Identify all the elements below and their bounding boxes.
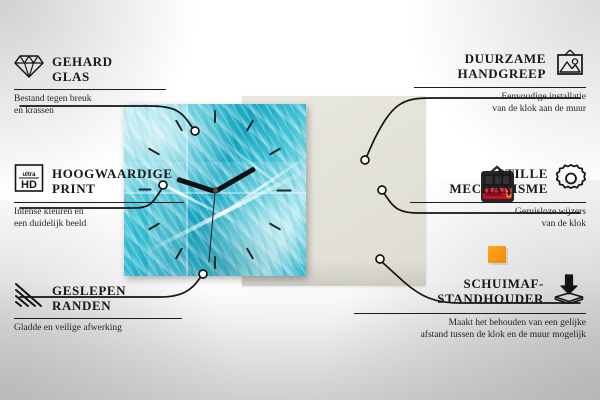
- feature-rule: [410, 202, 586, 203]
- feature-stille-mechanisme: STILLE MECHANISME Geruisloze wijzers van…: [410, 163, 586, 230]
- diamond-icon: [14, 52, 44, 85]
- feature-description: Bestand tegen breuk en krassen: [14, 94, 166, 117]
- feature-geslepen-randen: GESLEPEN RANDEN Gladde en veilige afwerk…: [14, 281, 182, 335]
- clock-tick-12: [214, 110, 216, 123]
- feature-description: Gladde en veilige afwerking: [14, 323, 182, 335]
- reflection-edge-vertical: [186, 104, 188, 276]
- feature-head: GESLEPEN RANDEN: [14, 281, 182, 314]
- clock-tick-3: [277, 190, 292, 192]
- foam-spacer-pad: [488, 246, 506, 263]
- feature-head: SCHUIMAF- STANDHOUDER: [354, 272, 586, 309]
- feature-head: STILLE MECHANISME: [410, 163, 586, 198]
- feature-rule: [14, 89, 166, 90]
- infographic-stage: GEHARD GLAS Bestand tegen breuk en krass…: [0, 0, 600, 400]
- feature-hoogwaardige-print: ultra HD HOOGWAARDIGE PRINT Intense kleu…: [14, 163, 184, 230]
- feature-head: ultra HD HOOGWAARDIGE PRINT: [14, 163, 184, 198]
- feature-rule: [14, 318, 182, 319]
- feature-description: Geruisloze wijzers van de klok: [410, 207, 586, 230]
- hd-label: HD: [21, 179, 37, 191]
- clock-tick-6: [214, 256, 216, 269]
- feature-title: GESLEPEN RANDEN: [52, 283, 126, 313]
- feature-duurzame-handgreep: DUURZAME HANDGREEP Eenvoudige installati…: [414, 48, 586, 115]
- ultra-label: ultra: [22, 172, 36, 178]
- feature-description: Maakt het behouden van een gelijke afsta…: [354, 318, 586, 341]
- ultra-hd-icon: ultra HD: [14, 163, 44, 198]
- feature-schuimafstandhouder: SCHUIMAF- STANDHOUDER Maakt het behouden…: [354, 272, 586, 341]
- feature-title: DUURZAME HANDGREEP: [458, 51, 546, 81]
- press-down-icon: [552, 272, 586, 309]
- feature-rule: [354, 313, 586, 314]
- feature-rule: [14, 202, 184, 203]
- gear-icon: [556, 163, 586, 198]
- feature-description: Eenvoudige installatie van de klok aan d…: [414, 92, 586, 115]
- feature-gehard-glas: GEHARD GLAS Bestand tegen breuk en krass…: [14, 52, 166, 117]
- feature-title: HOOGWAARDIGE PRINT: [52, 166, 173, 196]
- feature-title: STILLE MECHANISME: [450, 166, 548, 196]
- feature-title: GEHARD GLAS: [52, 54, 113, 84]
- feature-rule: [414, 87, 586, 88]
- bevelled-edges-icon: [14, 281, 44, 314]
- feature-title: SCHUIMAF- STANDHOUDER: [437, 276, 544, 306]
- feature-head: DUURZAME HANDGREEP: [414, 48, 586, 83]
- picture-frame-icon: [554, 48, 586, 83]
- feature-head: GEHARD GLAS: [14, 52, 166, 85]
- feature-description: Intense kleuren en een duidelijk beeld: [14, 207, 184, 230]
- clock-centre-hub: [213, 188, 218, 193]
